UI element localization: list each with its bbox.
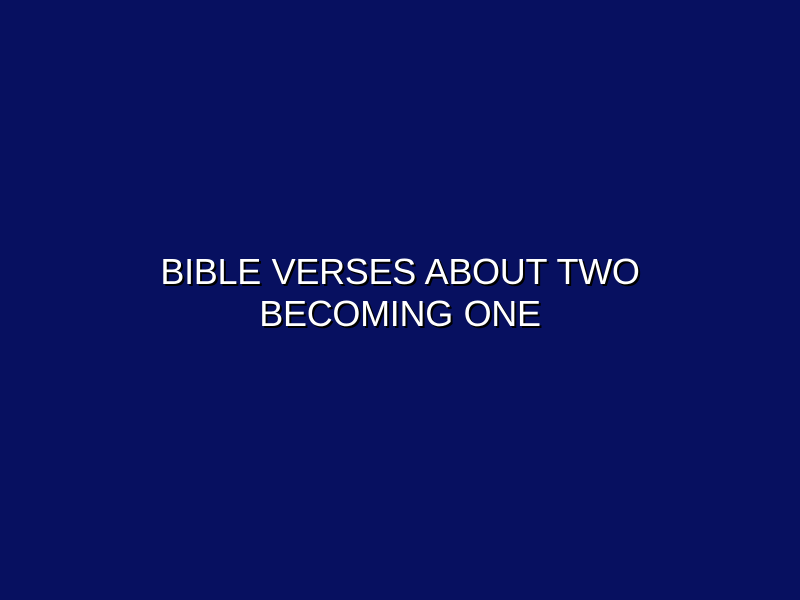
title-card: Bible Verses About Two Becoming One (0, 0, 800, 600)
title-block: Bible Verses About Two Becoming One (70, 251, 730, 335)
page-title: Bible Verses About Two Becoming One (70, 251, 730, 335)
